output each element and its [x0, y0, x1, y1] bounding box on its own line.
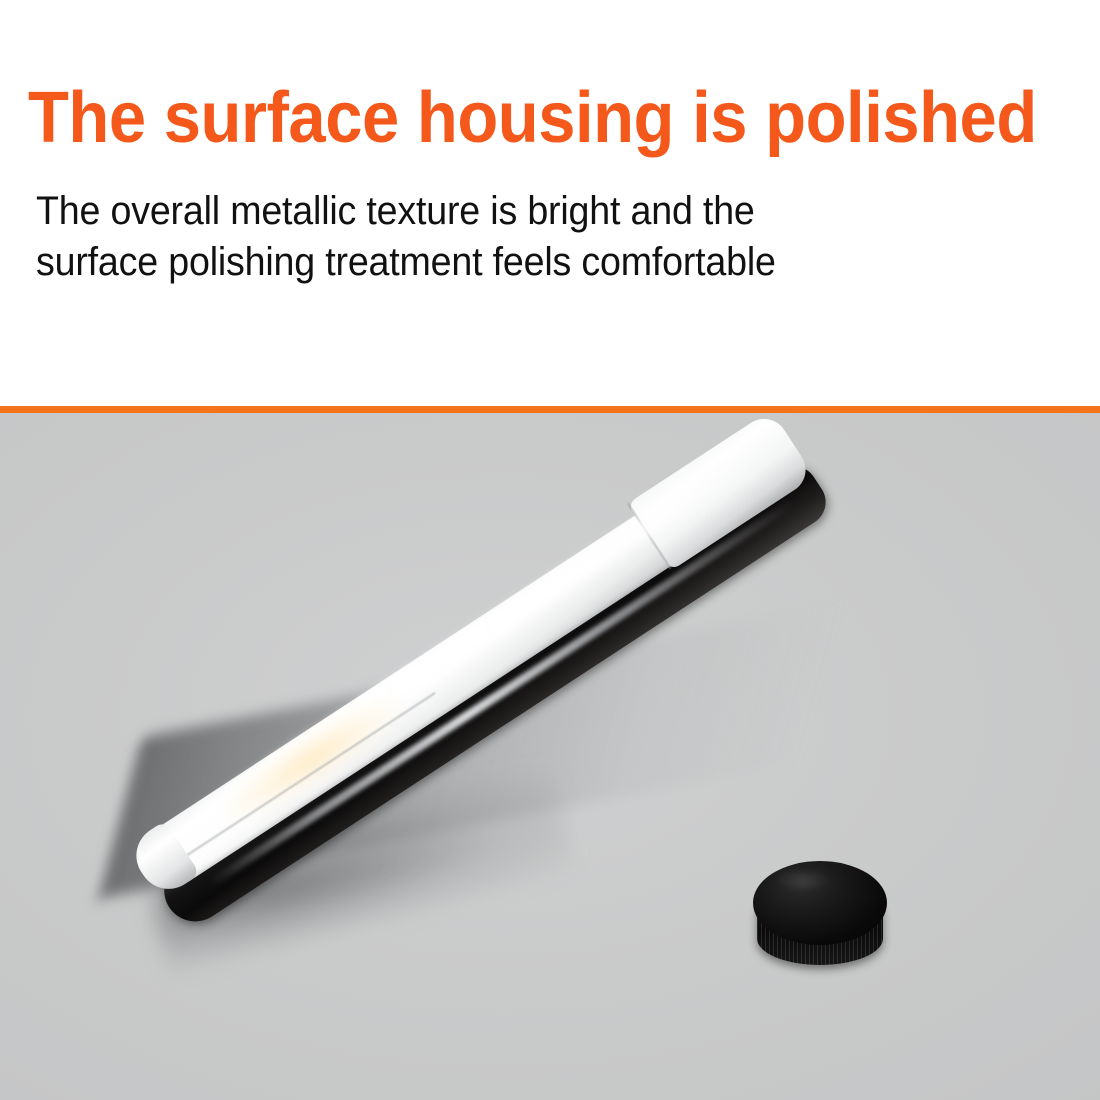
knurled-knob — [753, 861, 887, 969]
product-photo: 13 BLATT 0.05-1.00mm — [0, 413, 1100, 1100]
subtitle-line-2: surface polishing treatment feels comfor… — [36, 237, 1004, 288]
product-feature-banner: The surface housing is polished The over… — [0, 0, 1100, 1100]
page-title: The surface housing is polished — [28, 82, 1037, 154]
knob-highlight — [775, 869, 831, 891]
subtitle-line-1: The overall metallic texture is bright a… — [36, 186, 1004, 237]
subtitle: The overall metallic texture is bright a… — [36, 186, 1004, 288]
text-block: The surface housing is polished The over… — [0, 0, 1100, 406]
orange-divider — [0, 406, 1100, 413]
